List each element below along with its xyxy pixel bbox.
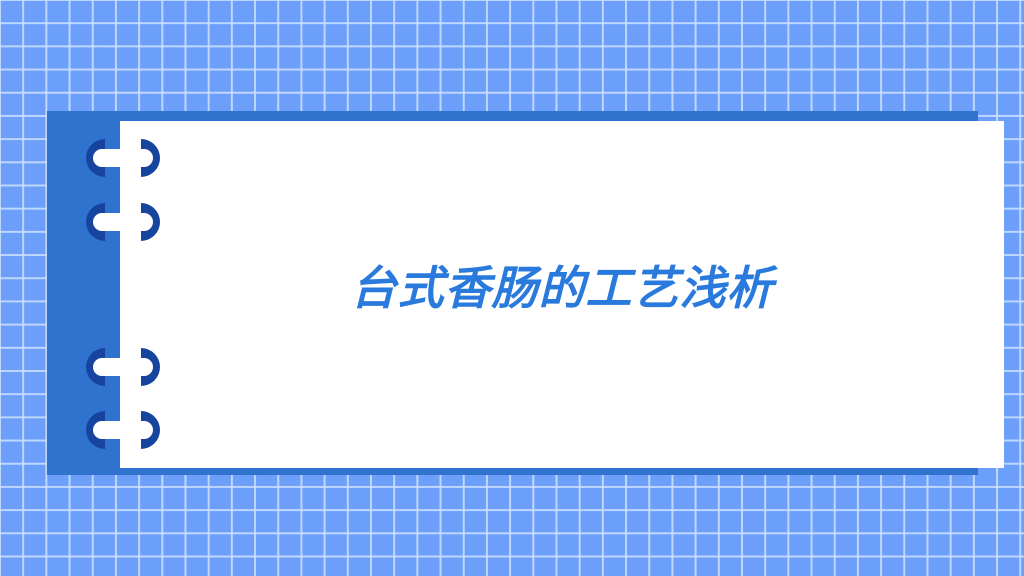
binder-ring-icon-2 — [75, 199, 171, 245]
binder-ring-icon-1 — [75, 135, 171, 181]
binder-ring-icon-4 — [75, 407, 171, 453]
slide-canvas: 台式香肠的工艺浅析 — [0, 0, 1024, 576]
binder-ring-icon-3 — [75, 344, 171, 390]
notebook-page — [120, 121, 1004, 468]
notebook-frame: 台式香肠的工艺浅析 — [47, 111, 978, 475]
